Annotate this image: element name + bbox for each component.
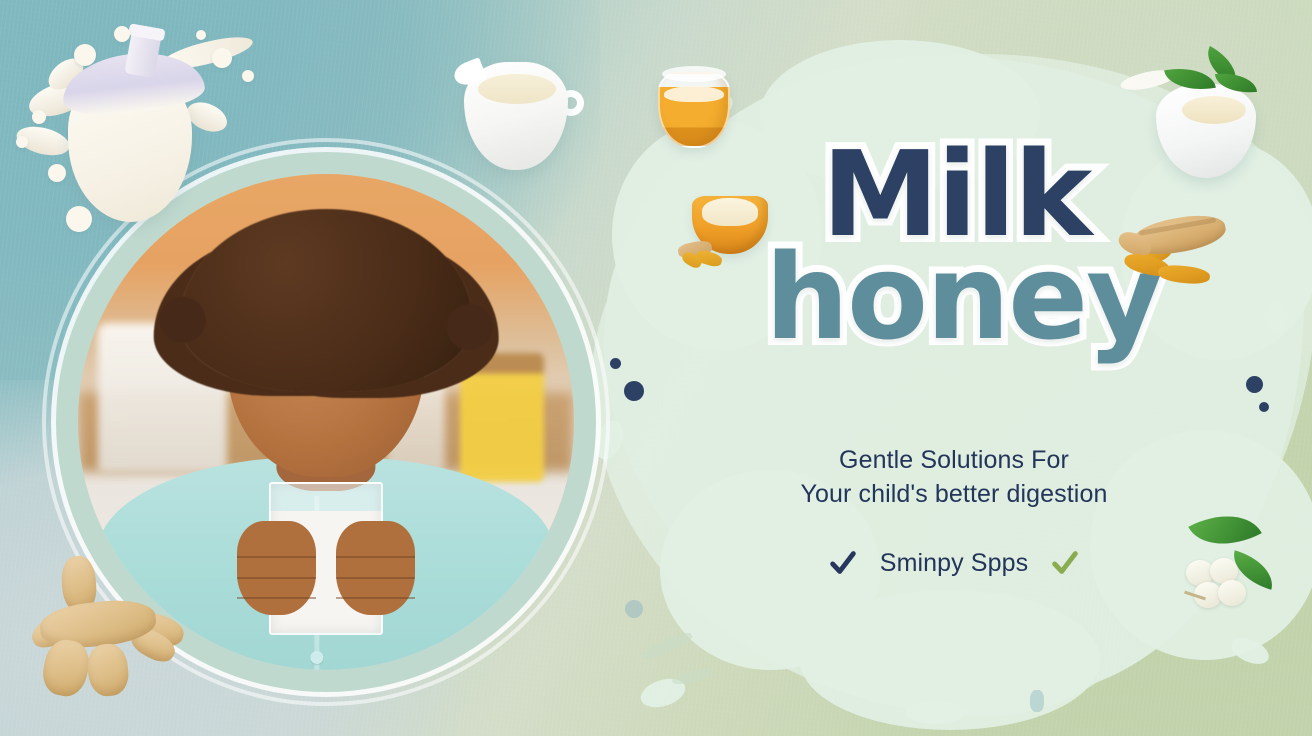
milk-splash-bottle-icon: [10, 18, 260, 233]
flower-leaf-icon: [1188, 498, 1262, 562]
decor-dot-right-large: [1246, 376, 1263, 393]
decor-dot-left-small: [610, 358, 621, 369]
shirt-button: [310, 651, 323, 664]
milk-droplet: [74, 44, 96, 66]
ginger-root-icon: [30, 556, 194, 700]
feature-label: Sminpy Spps: [880, 549, 1028, 578]
jar-rim: [662, 66, 726, 82]
check-icon: [828, 548, 858, 578]
flower-petal: [1218, 580, 1246, 606]
splash-accent: [671, 668, 712, 686]
splash-accent: [1030, 690, 1044, 712]
decor-dot-left-large: [624, 381, 644, 401]
child-hand-right: [336, 521, 415, 615]
cream-jug-icon: [452, 48, 582, 176]
subtitle-line-2: Your child's better digestion: [604, 478, 1304, 512]
ginger-turmeric-root-icon: [1118, 212, 1236, 304]
splash-accent: [625, 600, 643, 618]
milk-droplet: [114, 26, 130, 42]
jug-milk-surface: [478, 74, 556, 104]
splash-accent: [640, 630, 694, 663]
bowl-cream: [702, 198, 758, 226]
promo-banner: Milk honey Gentle Solutions For Your chi…: [0, 0, 1312, 736]
milk-droplet: [66, 206, 92, 232]
milk-droplet: [212, 48, 232, 68]
subtitle-line-1: Gentle Solutions For: [604, 444, 1304, 478]
splash-droplet: [1265, 300, 1287, 334]
milk-droplet: [242, 70, 254, 82]
subtitle: Gentle Solutions For Your child's better…: [604, 444, 1304, 512]
milk-droplet: [16, 136, 28, 148]
honey-glass-jar-icon: [656, 58, 732, 152]
honey-bowl-with-ginger-icon: [678, 186, 774, 278]
blob-lobe: [760, 40, 1040, 190]
white-flower-with-leaves-icon: [1184, 508, 1300, 632]
child-hand-left: [237, 521, 316, 615]
jar-cream: [664, 86, 724, 102]
decor-dot-right-small: [1259, 402, 1269, 412]
splash-droplet: [905, 700, 965, 724]
cup-milk-surface: [1182, 96, 1246, 124]
ginger-pieces: [678, 232, 726, 268]
jar-glass: [658, 72, 730, 148]
milk-droplet: [48, 164, 66, 182]
check-icon: [1050, 548, 1080, 578]
milk-droplet: [32, 110, 46, 124]
milk-cup-with-basil-leaves-icon: [1150, 52, 1266, 180]
kitchen-honey-jar: [460, 353, 544, 482]
turmeric-piece: [1157, 263, 1210, 285]
milk-droplet: [196, 30, 206, 40]
